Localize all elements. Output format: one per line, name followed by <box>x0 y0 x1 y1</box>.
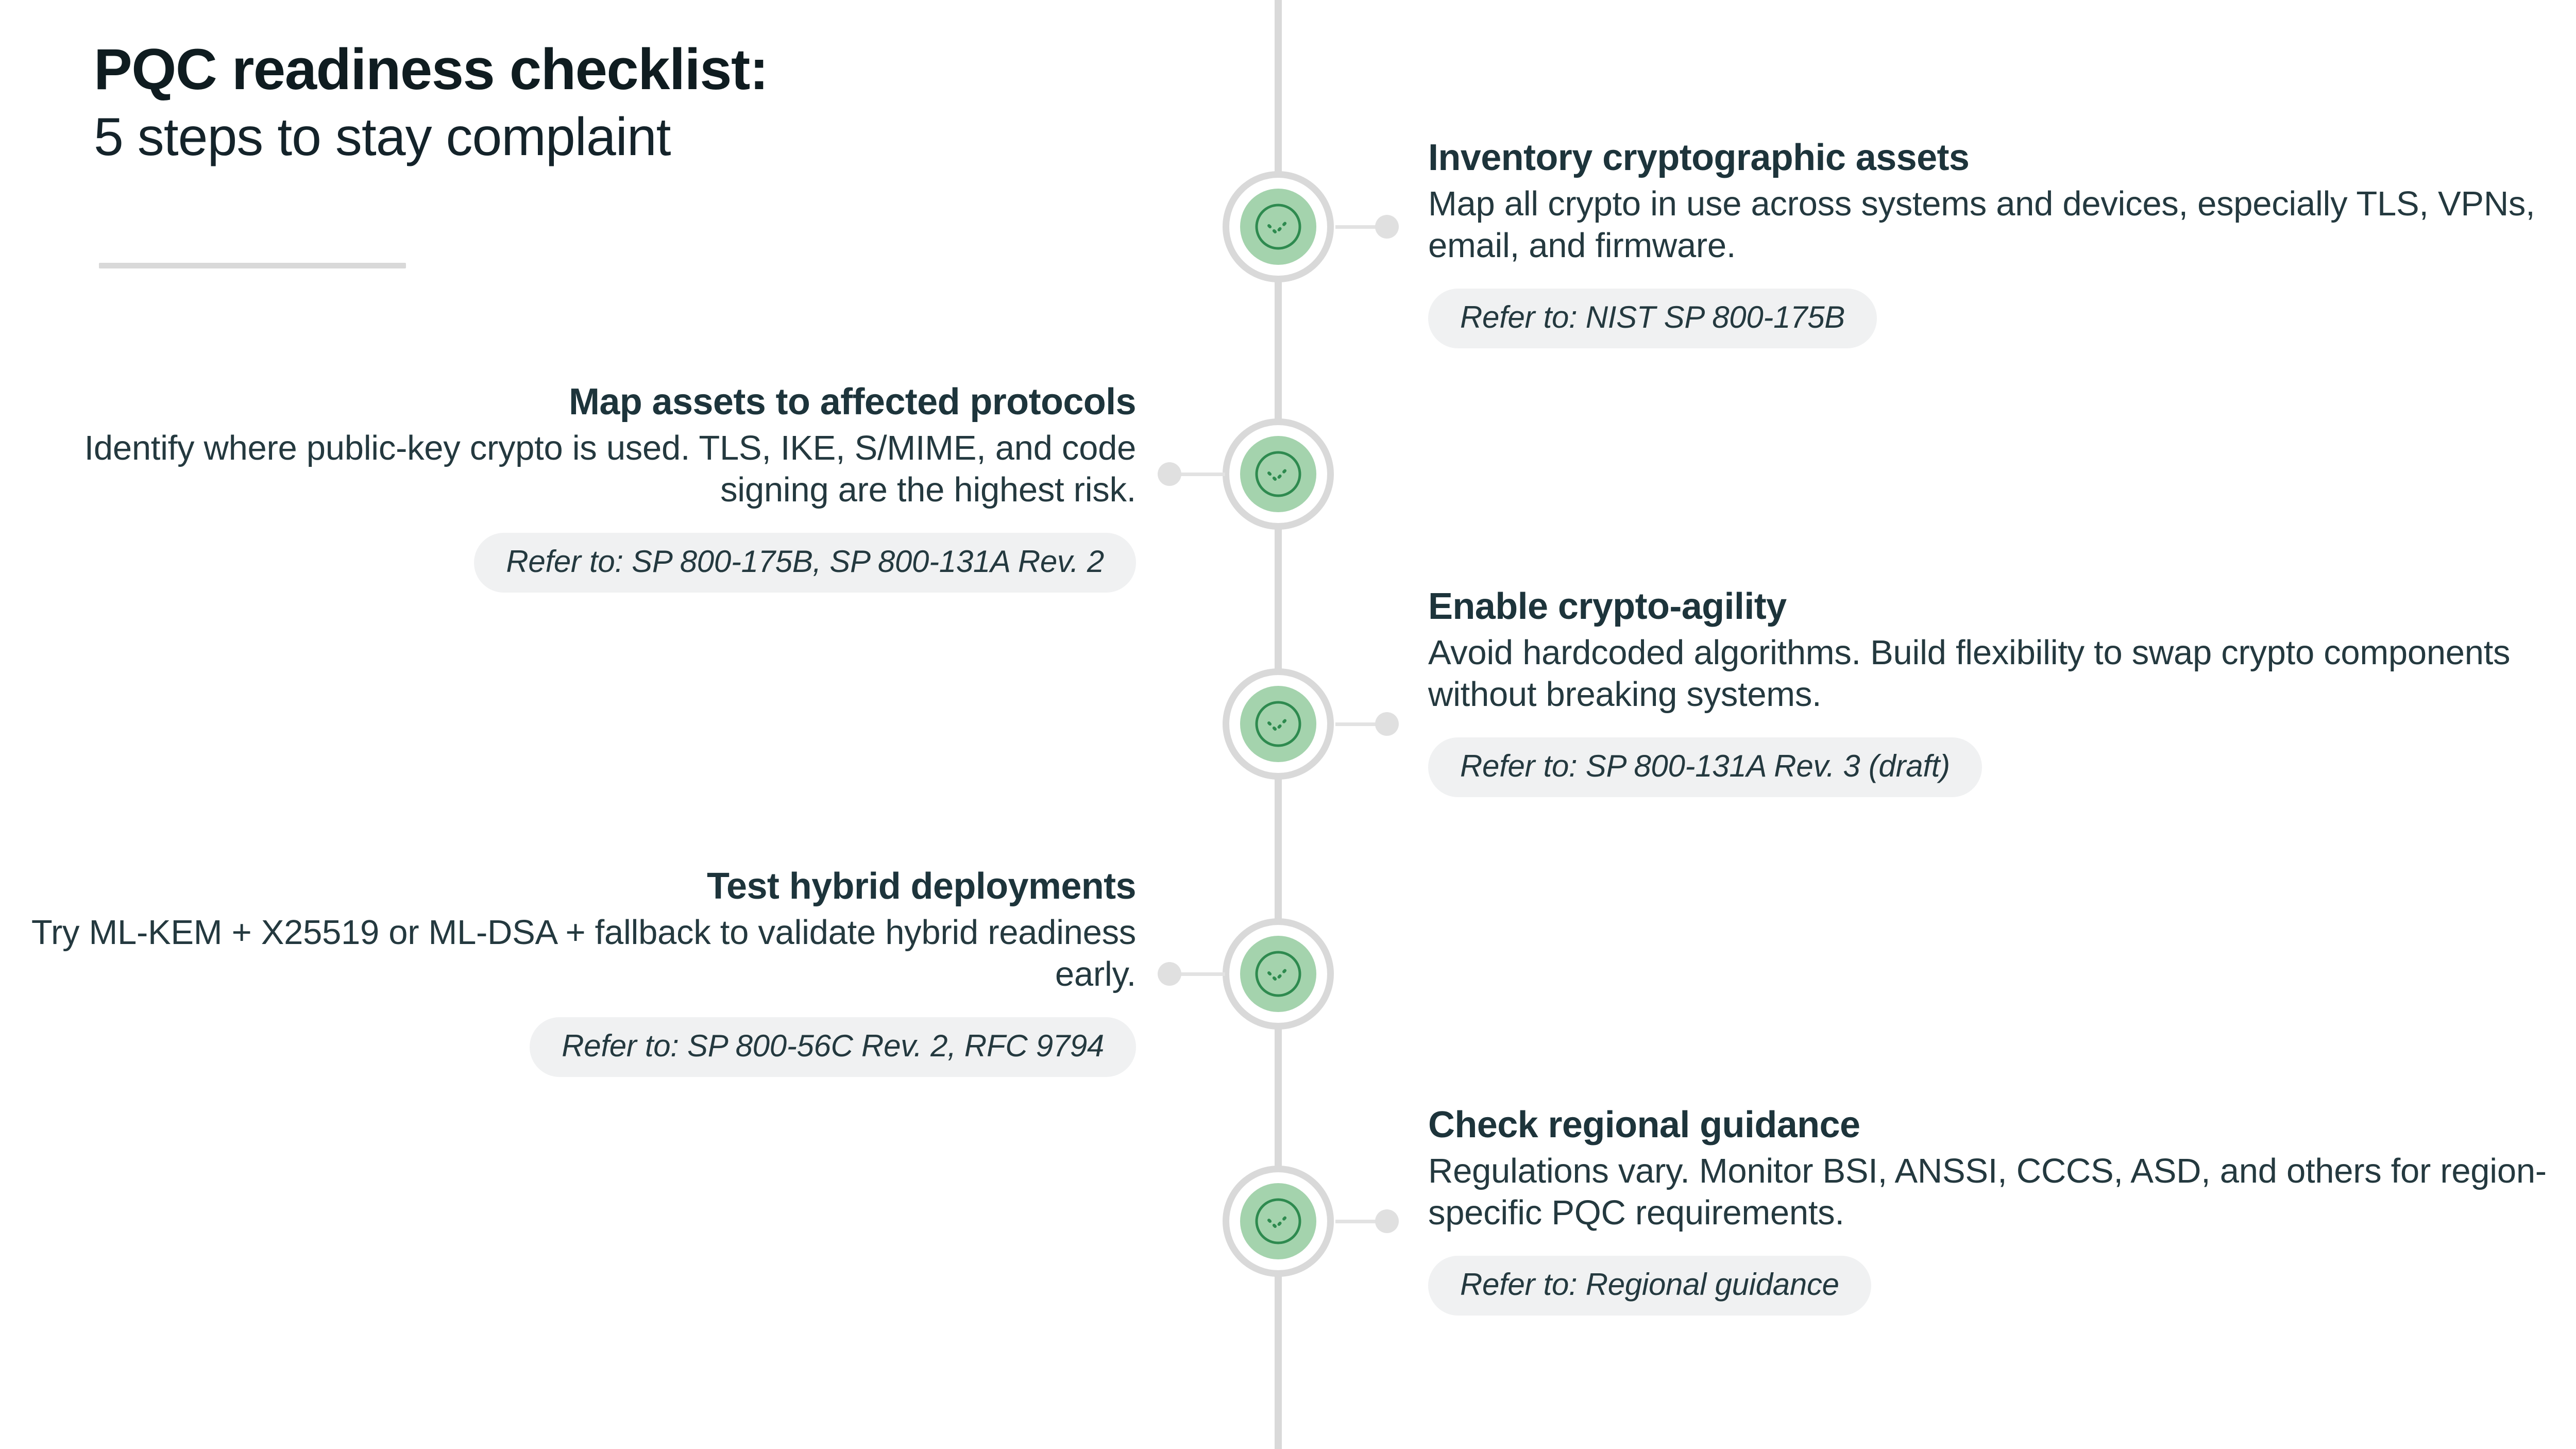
step-2: Map assets to affected protocols Identif… <box>31 381 1136 593</box>
check-circle-icon <box>1253 699 1303 749</box>
connector-dot-4 <box>1158 962 1181 986</box>
step-5-title: Check regional guidance <box>1428 1104 2562 1146</box>
step-1-description: Map all crypto in use across systems and… <box>1428 183 2536 267</box>
check-circle-icon <box>1253 202 1303 251</box>
step-3-description: Avoid hardcoded algorithms. Build flexib… <box>1428 632 2536 716</box>
node-inner-circle-4 <box>1240 936 1316 1012</box>
connector-dot-3 <box>1375 712 1399 736</box>
step-4-refer-badge: Refer to: SP 800-56C Rev. 2, RFC 9794 <box>530 1017 1136 1077</box>
step-2-title: Map assets to affected protocols <box>31 381 1136 423</box>
connector-dot-2 <box>1158 462 1181 486</box>
timeline-node-4[interactable] <box>1223 918 1334 1030</box>
connector-dot-5 <box>1375 1209 1399 1233</box>
title-block: PQC readiness checklist: 5 steps to stay… <box>94 37 1073 169</box>
step-1: Inventory cryptographic assets Map all c… <box>1428 137 2536 348</box>
node-inner-circle-5 <box>1240 1183 1316 1259</box>
timeline-node-2[interactable] <box>1223 418 1334 530</box>
step-5-refer-badge: Refer to: Regional guidance <box>1428 1256 1871 1316</box>
step-5-description: Regulations vary. Monitor BSI, ANSSI, CC… <box>1428 1150 2562 1234</box>
check-circle-icon <box>1253 1197 1303 1246</box>
step-4: Test hybrid deployments Try ML-KEM + X25… <box>31 866 1136 1077</box>
title-divider <box>99 263 406 268</box>
connector-line-4 <box>1174 972 1225 976</box>
step-4-description: Try ML-KEM + X25519 or ML-DSA + fallback… <box>31 912 1136 996</box>
step-4-title: Test hybrid deployments <box>31 866 1136 907</box>
timeline-node-5[interactable] <box>1223 1166 1334 1277</box>
connector-line-2 <box>1174 473 1225 476</box>
check-circle-icon <box>1253 949 1303 999</box>
step-1-title: Inventory cryptographic assets <box>1428 137 2536 179</box>
check-circle-icon <box>1253 449 1303 499</box>
step-3-refer-badge: Refer to: SP 800-131A Rev. 3 (draft) <box>1428 737 1982 797</box>
timeline-node-3[interactable] <box>1223 668 1334 780</box>
node-inner-circle-1 <box>1240 189 1316 265</box>
step-5: Check regional guidance Regulations vary… <box>1428 1104 2562 1316</box>
node-inner-circle-2 <box>1240 436 1316 512</box>
connector-dot-1 <box>1375 215 1399 239</box>
step-2-refer-badge: Refer to: SP 800-175B, SP 800-131A Rev. … <box>474 533 1136 593</box>
page-subtitle: 5 steps to stay complaint <box>94 106 1073 169</box>
node-inner-circle-3 <box>1240 686 1316 762</box>
step-1-refer-badge: Refer to: NIST SP 800-175B <box>1428 289 1877 348</box>
page-title: PQC readiness checklist: <box>94 37 1073 102</box>
step-3: Enable crypto-agility Avoid hardcoded al… <box>1428 586 2536 797</box>
timeline-node-1[interactable] <box>1223 171 1334 282</box>
step-3-title: Enable crypto-agility <box>1428 586 2536 628</box>
step-2-description: Identify where public-key crypto is used… <box>31 427 1136 511</box>
